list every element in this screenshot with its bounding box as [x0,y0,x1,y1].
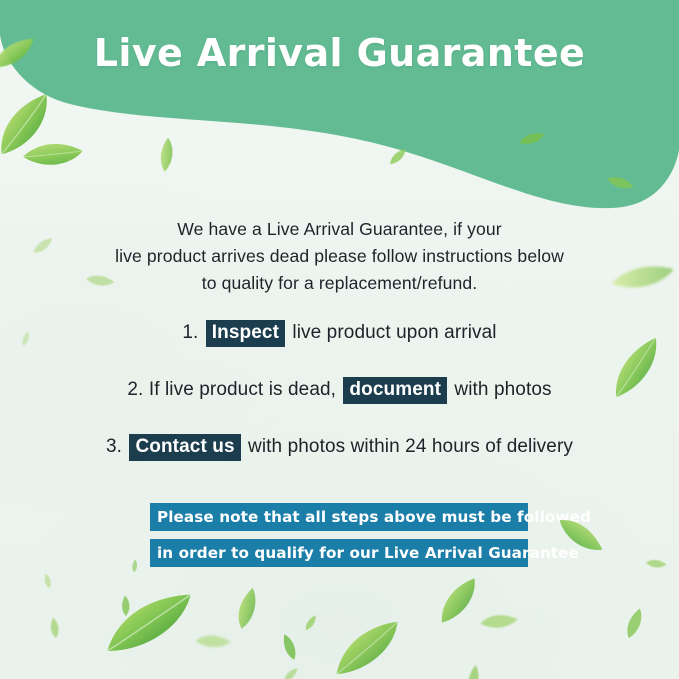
step-number: 1. [182,322,198,343]
intro-line-2: live product arrives dead please follow … [0,243,679,270]
step-item-2: 2. If live product is dead, document wit… [0,377,679,404]
step-highlight-inspect[interactable]: Inspect [206,320,285,347]
step-text-after: with photos within 24 hours of delivery [243,436,573,457]
intro-paragraph: We have a Live Arrival Guarantee, if you… [0,216,679,297]
live-arrival-guarantee-page: Live Arrival Guarantee We have a Live Ar… [0,0,679,679]
step-highlight-contact-us[interactable]: Contact us [129,434,240,461]
note-divider [150,531,528,539]
step-text-after: with photos [449,379,552,400]
page-title: Live Arrival Guarantee [0,31,679,75]
step-item-3: 3. Contact us with photos within 24 hour… [0,434,679,461]
step-text-after: live product upon arrival [287,322,497,343]
note-line-1: Please note that all steps above must be… [150,503,528,531]
step-text-before: If live product is dead, [143,379,341,400]
steps-list: 1. Inspect live product upon arrival 2. … [0,320,679,491]
header-banner: Live Arrival Guarantee [0,0,679,230]
step-number: 2. [127,379,143,400]
step-highlight-document[interactable]: document [343,377,447,404]
step-item-1: 1. Inspect live product upon arrival [0,320,679,347]
intro-line-3: to quality for a replacement/refund. [0,270,679,297]
step-number: 3. [106,436,122,457]
note-banner: Please note that all steps above must be… [150,503,528,567]
intro-line-1: We have a Live Arrival Guarantee, if you… [0,216,679,243]
note-line-2: in order to qualify for our Live Arrival… [150,539,528,567]
